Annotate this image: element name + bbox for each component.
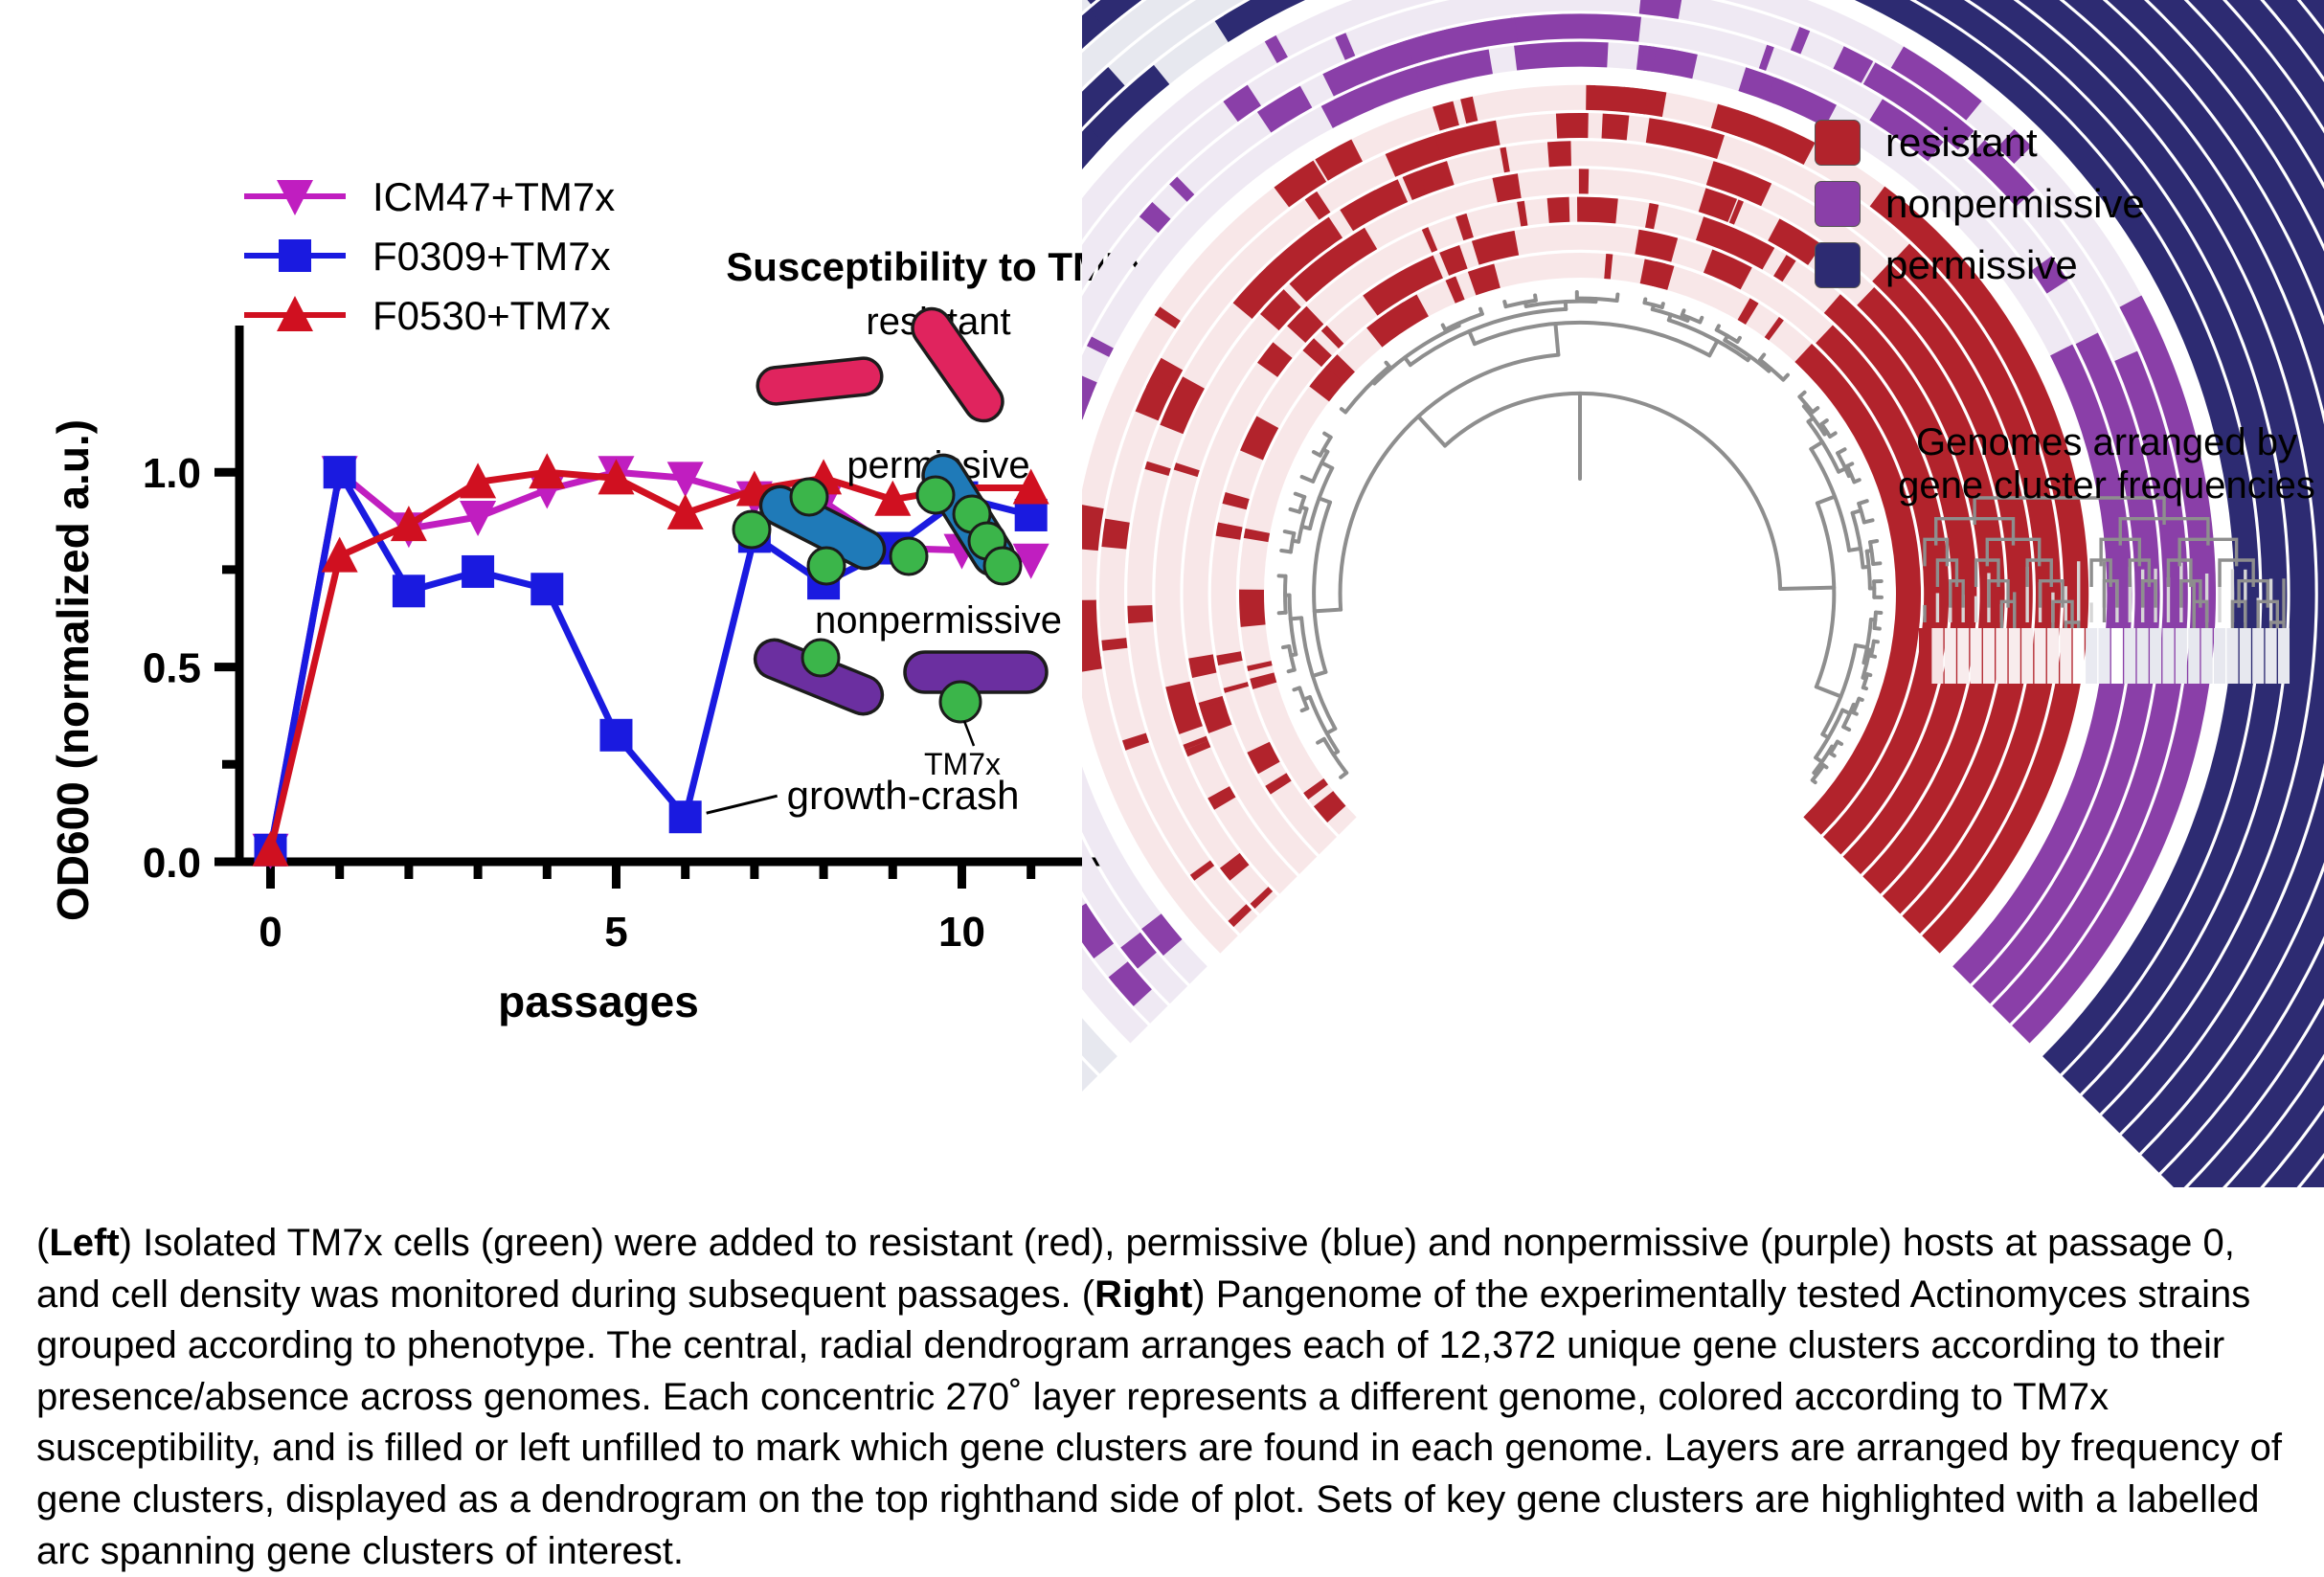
dendrogram-branch-radial <box>1291 618 1301 619</box>
legend-row-nonpermissive: nonpermissive <box>1815 181 2145 227</box>
dendrogram-leaf <box>1824 765 1827 767</box>
frequency-strip-cell <box>2111 628 2123 684</box>
frequency-strip-cell <box>2176 628 2187 684</box>
dendrogram-branch-radial <box>1804 404 1806 406</box>
dendrogram-branch-radial <box>1313 672 1326 676</box>
dendrogram-leaf <box>1760 354 1764 359</box>
frequency-strip-cell <box>2073 628 2085 684</box>
dendrogram-leaf <box>1281 551 1291 552</box>
dendrogram-branch-radial <box>1849 475 1851 476</box>
caption-part-3: Right <box>1094 1273 1192 1316</box>
frequency-strip-cell <box>2047 628 2059 684</box>
dendrogram-leaf <box>1830 433 1836 437</box>
frequency-strip-cell <box>2124 628 2135 684</box>
gene-cluster-block <box>1514 42 1609 71</box>
dendrogram-branch-radial <box>1293 541 1298 542</box>
gene-cluster-block <box>1579 169 1589 193</box>
dendrogram-leaf <box>1341 773 1346 777</box>
gene-cluster-block <box>1577 197 1618 224</box>
dendrogram-branch-radial <box>1824 433 1827 435</box>
pangenome-legend: resistant nonpermissive permissive <box>1815 120 2145 304</box>
dendrogram-leaf <box>1302 477 1314 482</box>
dendrogram-branch-radial <box>1842 710 1850 713</box>
dendrogram-caption-line1: Genomes arranged by <box>1891 421 2322 464</box>
dendrogram-leaf <box>1535 296 1536 301</box>
dendrogram-leaf <box>1717 326 1719 329</box>
frequency-strip-cell <box>1945 628 1956 684</box>
gene-cluster-block <box>1586 85 1648 115</box>
frequency-strip-cell <box>2098 628 2110 684</box>
frequency-strip-cell <box>1931 628 1943 684</box>
dendrogram-branch-radial <box>1334 752 1339 755</box>
frequency-strip <box>1919 628 2290 684</box>
dendrogram-branch-radial <box>1709 341 1717 355</box>
legend-swatch-nonpermissive <box>1815 181 1861 227</box>
dendrogram-leaf <box>1813 780 1816 782</box>
dendrogram-branch-radial <box>1458 324 1459 326</box>
frequency-strip-cell <box>2201 628 2213 684</box>
frequency-strip-cell <box>2035 628 2046 684</box>
central-dendrogram <box>1279 292 1882 782</box>
legend-row-resistant: resistant <box>1815 120 2145 166</box>
dendrogram-branch-radial <box>1856 645 1867 647</box>
gene-cluster-block <box>1602 114 1630 141</box>
frequency-strip-cell <box>2150 628 2161 684</box>
legend-row-permissive: permissive <box>1815 242 2145 288</box>
dendrogram-branch-radial <box>1816 757 1821 762</box>
dendrogram-leaf <box>1318 739 1324 743</box>
dendrogram-leaf <box>1783 375 1788 380</box>
gene-cluster-block <box>1635 230 1678 262</box>
dendrogram-branch-radial <box>1291 654 1296 655</box>
frequency-strip-cell <box>2252 628 2264 684</box>
dendrogram-branch-radial <box>1301 527 1310 529</box>
frequency-strip-cell <box>1996 628 2007 684</box>
frequency-strip-cell <box>1919 628 1930 684</box>
dendrogram-leaf <box>1873 563 1880 564</box>
dendrogram-branch-radial <box>1469 331 1475 344</box>
dendrogram-caption: Genomes arranged by gene cluster frequen… <box>1891 421 2322 507</box>
dendrogram-branch-arc <box>1843 705 1854 727</box>
dendrogram-branch-radial <box>1863 567 1869 568</box>
frequency-strip-cell <box>2137 628 2149 684</box>
dendrogram-leaf <box>1285 531 1295 533</box>
frequency-strip-cell <box>1957 628 1969 684</box>
dendrogram-leaf <box>1863 687 1866 688</box>
dendrogram-leaf <box>1843 727 1849 730</box>
legend-item-2: F0530+TM7x <box>244 293 611 338</box>
dendrogram-branch-radial <box>1555 324 1558 355</box>
legend-label: F0309+TM7x <box>372 234 611 279</box>
dendrogram-branch-radial <box>1301 507 1307 509</box>
gene-cluster-block <box>1556 113 1587 139</box>
dendrogram-branch-radial <box>1405 357 1410 365</box>
caption-part-0: ( <box>36 1222 49 1264</box>
frequency-strip-cell <box>2240 628 2251 684</box>
dendrogram-branch-radial <box>1832 747 1834 748</box>
y-axis-title: OD600 (normalized a.u.) <box>48 419 98 921</box>
legend-label-permissive: permissive <box>1885 242 2078 288</box>
dendrogram-branch-radial <box>1853 510 1861 513</box>
dendrogram-leaf <box>1700 318 1702 323</box>
data-point <box>530 573 563 605</box>
dendrogram-leaf <box>1870 541 1877 542</box>
gene-cluster-block <box>1639 0 1682 19</box>
frequency-strip-cell <box>1983 628 1995 684</box>
y-tick-label: 0.5 <box>143 645 201 692</box>
frequency-strip-cell <box>2266 628 2277 684</box>
frequency-strip-cell <box>2162 628 2174 684</box>
frequency-strip-cell <box>2086 628 2097 684</box>
gene-cluster-block <box>1511 13 1641 42</box>
dendrogram-branch-arc <box>1816 503 1834 687</box>
dendrogram-branch-arc <box>1870 542 1873 564</box>
legend-label-resistant: resistant <box>1885 120 2038 166</box>
x-tick-label: 0 <box>259 909 282 956</box>
gene-cluster-block <box>1082 600 1101 664</box>
dendrogram-branch-radial <box>1863 663 1866 664</box>
dendrogram-leaf <box>1314 452 1320 456</box>
legend-item-1: F0309+TM7x <box>244 234 611 279</box>
dendrogram-leaf <box>1296 494 1304 497</box>
frequency-strip-cell <box>2060 628 2071 684</box>
dendrogram-leaf <box>1291 509 1300 512</box>
figure-caption: (Left) Isolated TM7x cells (green) were … <box>36 1218 2296 1577</box>
dendrogram-leaf <box>1853 712 1856 713</box>
gene-cluster-block <box>1082 505 1104 552</box>
x-axis-title: passages <box>498 977 699 1026</box>
dendrogram-leaf <box>1387 363 1389 367</box>
frequency-strip-cell <box>2226 628 2238 684</box>
frequency-strip-cell <box>2278 628 2290 684</box>
caption-part-4: ) Pangenome of the experimentally tested… <box>36 1273 2282 1572</box>
dendrogram-leaf <box>1504 302 1505 306</box>
dendrogram-leaf <box>1283 646 1289 647</box>
dendrogram-leaf <box>1342 409 1345 412</box>
dendrogram-branch-radial <box>1811 442 1822 449</box>
dendrogram-leaf <box>1854 480 1859 482</box>
nonpermissive-cells-icon: TM7x <box>750 634 1047 775</box>
dendrogram-branch-radial <box>1373 382 1375 384</box>
x-tick-label: 5 <box>604 909 627 956</box>
tm7x-callout-label: TM7x <box>924 747 1001 775</box>
gene-cluster-block <box>1547 197 1570 223</box>
legend-label: F0530+TM7x <box>372 293 611 338</box>
legend-swatch-permissive <box>1815 242 1861 288</box>
gene-cluster-block <box>1492 173 1521 202</box>
dendrogram-leaf <box>1443 325 1446 329</box>
gene-cluster-block <box>1239 590 1266 627</box>
dendrogram-leaf <box>1662 304 1663 307</box>
dendrogram-leaf <box>1821 420 1826 424</box>
dendrogram-branch-radial <box>1418 417 1445 445</box>
caption-part-1: Left <box>49 1222 119 1264</box>
dendrogram-branch-arc <box>1853 513 1863 568</box>
dendrogram-branch-radial <box>1725 336 1727 341</box>
dendrogram-branch-radial <box>1687 318 1688 321</box>
nonpermissive-label: nonpermissive <box>815 599 1062 642</box>
dendrogram-leaf <box>1294 687 1299 689</box>
dendrogram-leaf <box>1813 408 1817 412</box>
dendrogram-leaf <box>1838 742 1841 744</box>
data-point <box>462 555 494 588</box>
dendrogram-leaf <box>1682 310 1684 315</box>
dendrogram-leaf <box>1874 628 1879 629</box>
frequency-strip-cell <box>2021 628 2033 684</box>
dendrogram-leaf <box>1847 463 1852 465</box>
frequency-strip-cell <box>2009 628 2020 684</box>
dendrogram-branch-arc <box>1314 503 1330 672</box>
dendrogram-branch-radial <box>1817 497 1835 504</box>
dendrogram-branch-radial <box>1822 734 1828 738</box>
dendrogram-leaf <box>1874 642 1878 642</box>
dendrogram-leaf <box>1737 338 1740 342</box>
dendrogram-leaf <box>1859 501 1867 504</box>
dendrogram-leaf <box>1302 709 1308 710</box>
dendrogram-branch-radial <box>1748 356 1750 360</box>
dendrogram-branch-radial <box>1320 498 1330 502</box>
dendrogram-branch-radial <box>1327 729 1336 733</box>
dendrogram-leaf <box>1871 656 1875 657</box>
frequency-strip-cell <box>1971 628 1982 684</box>
dendrogram-leaf <box>1617 294 1618 301</box>
legend-label-nonpermissive: nonpermissive <box>1885 181 2145 227</box>
dendrogram-branch-arc <box>1867 552 1870 589</box>
dendrogram-leaf <box>1644 299 1645 303</box>
legend-item-0: ICM47+TM7x <box>244 174 615 219</box>
dendrogram-branch-radial <box>1862 678 1865 679</box>
dendrogram-branch-radial <box>1867 551 1872 552</box>
frequency-strip-cell <box>2188 628 2200 684</box>
dendrogram-branch-radial <box>1769 369 1771 372</box>
dendrogram-branch-radial <box>1653 305 1654 310</box>
x-tick-label: 10 <box>938 909 985 956</box>
frequency-strip-cell <box>2214 628 2225 684</box>
annotation-leader-line <box>707 796 778 813</box>
dendrogram-branch-radial <box>1849 549 1861 551</box>
dendrogram-branch-radial <box>1315 610 1341 612</box>
dendrogram-leaf <box>1864 520 1873 522</box>
dendrogram-branch-arc <box>1475 323 1709 355</box>
dendrogram-branch-radial <box>1323 450 1327 452</box>
dendrogram-branch-radial <box>1525 303 1526 306</box>
data-point <box>669 800 702 833</box>
data-point <box>324 456 356 488</box>
dendrogram-branch-radial <box>1669 315 1671 321</box>
gene-cluster-block <box>1127 605 1153 623</box>
dendrogram-leaf <box>1799 393 1804 397</box>
gene-cluster-block <box>1101 519 1129 550</box>
dendrogram-branch-radial <box>1814 773 1816 775</box>
data-point <box>599 719 632 752</box>
dendrogram-leaf <box>1289 670 1295 672</box>
dendrogram-branch-radial <box>1304 697 1310 699</box>
dendrogram-branch-radial <box>1321 462 1332 468</box>
dendrogram-branch-radial <box>1870 650 1873 651</box>
dendrogram-leaf <box>1324 434 1331 438</box>
dendrogram-caption-line2: gene cluster frequencies <box>1891 464 2322 507</box>
dendrogram-branch-arc <box>1859 504 1864 523</box>
dendrogram-leaf <box>1831 754 1835 756</box>
dendrogram-branch-radial <box>1809 418 1814 422</box>
legend-label: ICM47+TM7x <box>372 174 615 219</box>
dendrogram-leaf <box>1867 674 1870 675</box>
legend-marker <box>279 239 311 272</box>
dendrogram-branch-radial <box>1854 705 1857 706</box>
dendrogram-leaf <box>1480 309 1482 314</box>
dendrogram-leaf <box>1838 449 1844 453</box>
dendrogram-branch-arc <box>1445 394 1780 589</box>
data-point <box>393 574 425 607</box>
dendrogram-branch-radial <box>1816 687 1841 696</box>
legend-swatch-resistant <box>1815 120 1861 166</box>
dendrogram-branch-arc <box>1341 355 1559 610</box>
dendrogram-branch-radial <box>1780 588 1834 589</box>
y-tick-label: 1.0 <box>143 450 201 497</box>
gene-cluster-block <box>1547 141 1571 167</box>
dendrogram-branch-radial <box>1839 468 1845 471</box>
dendrogram-leaf <box>1859 699 1861 700</box>
y-tick-label: 0.0 <box>143 840 201 887</box>
